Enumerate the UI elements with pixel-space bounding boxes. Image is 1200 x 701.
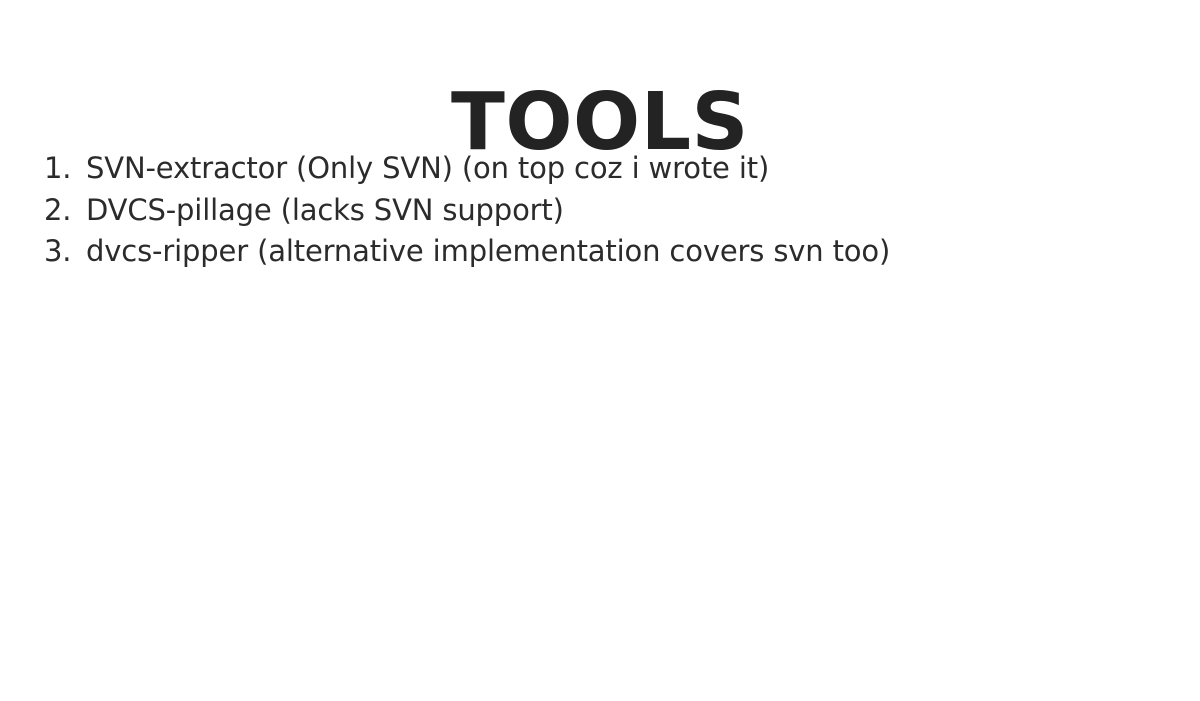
list-item: 3. dvcs-ripper (alternative implementati…: [86, 231, 1200, 273]
list-item: 1. SVN-extractor (Only SVN) (on top coz …: [86, 148, 1200, 190]
list-item: 2. DVCS-pillage (lacks SVN support): [86, 190, 1200, 232]
slide-canvas: TOOLS 1. SVN-extractor (Only SVN) (on to…: [0, 0, 1200, 701]
list-item-label: DVCS-pillage (lacks SVN support): [86, 193, 564, 227]
list-item-marker: 1.: [44, 148, 78, 190]
list-item-label: dvcs-ripper (alternative implementation …: [86, 234, 890, 268]
tool-list: 1. SVN-extractor (Only SVN) (on top coz …: [0, 148, 1200, 273]
list-item-label: SVN-extractor (Only SVN) (on top coz i w…: [86, 151, 769, 185]
list-item-marker: 2.: [44, 190, 78, 232]
list-item-marker: 3.: [44, 231, 78, 273]
slide-content: 1. SVN-extractor (Only SVN) (on top coz …: [0, 148, 1200, 273]
